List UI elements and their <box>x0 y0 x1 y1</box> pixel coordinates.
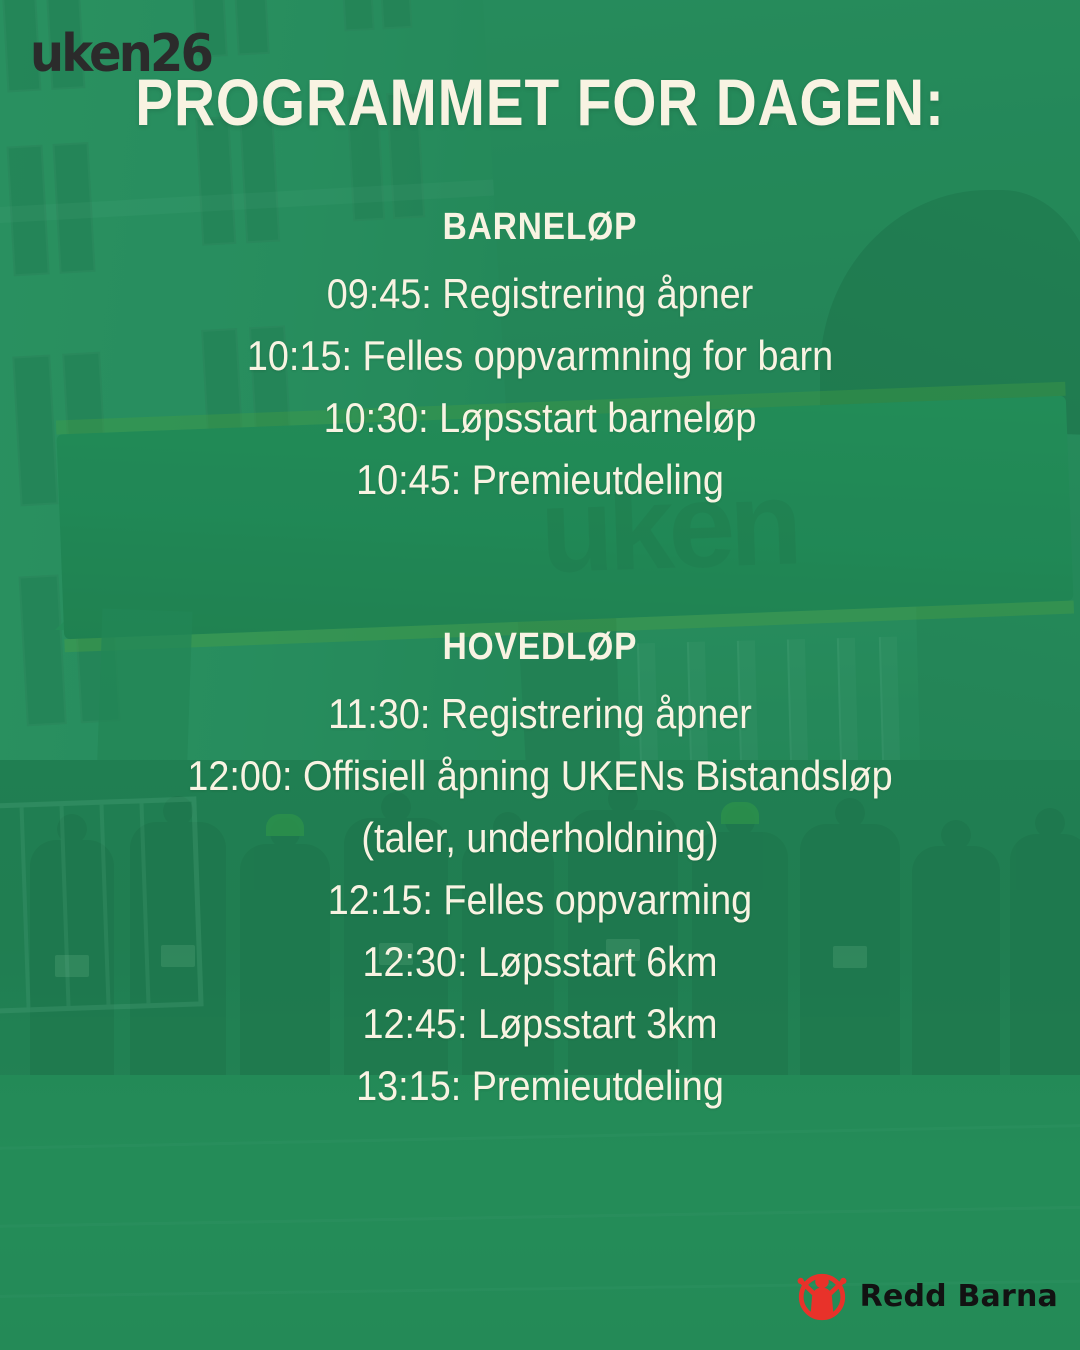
schedule-item: 09:45: Registrering åpner <box>54 263 1026 325</box>
schedule-item: 12:30: Løpsstart 6km <box>54 931 1026 993</box>
page-title: PROGRAMMET FOR DAGEN: <box>76 66 1005 138</box>
schedule-item: 10:30: Løpsstart barneløp <box>54 387 1026 449</box>
redd-barna-label: Redd Barna <box>860 1279 1058 1314</box>
schedule-item: 13:15: Premieutdeling <box>54 1055 1026 1117</box>
schedule-item: 12:45: Løpsstart 3km <box>54 993 1026 1055</box>
schedule-item: 12:15: Felles oppvarming <box>54 869 1026 931</box>
section-heading-hovedlop: HOVEDLØP <box>65 625 1015 669</box>
schedule-item: 12:00: Offisiell åpning UKENs Bistandslø… <box>54 745 1026 869</box>
redd-barna-logo: Redd Barna <box>796 1270 1058 1322</box>
poster: uken uken26 PROGRAMMET FOR DAGEN: <box>0 0 1080 1350</box>
schedule-item: 11:30: Registrering åpner <box>54 683 1026 745</box>
section-barnelop: BARNELØP 09:45: Registrering åpner 10:15… <box>0 205 1080 511</box>
schedule-item: 10:45: Premieutdeling <box>54 449 1026 511</box>
poster-content: uken26 PROGRAMMET FOR DAGEN: BARNELØP 09… <box>0 0 1080 1350</box>
schedule-item: 10:15: Felles oppvarmning for barn <box>54 325 1026 387</box>
child-in-circle-icon <box>796 1270 848 1322</box>
section-hovedlop: HOVEDLØP 11:30: Registrering åpner 12:00… <box>0 625 1080 1117</box>
section-heading-barnelop: BARNELØP <box>65 205 1015 249</box>
